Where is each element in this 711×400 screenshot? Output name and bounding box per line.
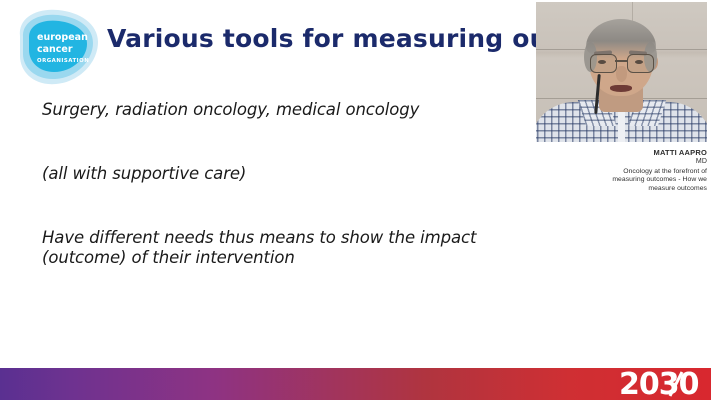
glasses-lens-right: [627, 54, 654, 73]
slide-body: Surgery, radiation oncology, medical onc…: [42, 100, 512, 268]
speaker-video-feed[interactable]: [536, 2, 707, 142]
body-paragraph-2: (all with supportive care): [42, 164, 512, 184]
logo-text-line2: cancer: [37, 44, 73, 55]
talk-title: Oncology at the forefront of measuring o…: [600, 168, 707, 193]
speaker-caption: MATTI AAPRO MD Oncology at the forefront…: [600, 148, 707, 193]
logo-text-line1: european: [37, 32, 88, 43]
speaker-nose: [616, 66, 627, 82]
footer-gradient-bar: [0, 368, 711, 400]
brand-2030-logo: 2030: [619, 368, 705, 400]
glasses-bridge: [615, 60, 627, 62]
brand-2030-text: 2030: [619, 369, 699, 399]
speaker-mouth: [610, 85, 632, 92]
european-cancer-organisation-logo: european cancer ORGANISATION: [8, 6, 104, 88]
glasses-lens-left: [590, 54, 617, 73]
speaker-name: MATTI AAPRO: [600, 148, 707, 157]
logo-text-line3: ORGANISATION: [37, 58, 89, 64]
body-paragraph-1: Surgery, radiation oncology, medical onc…: [42, 100, 512, 120]
body-paragraph-3: Have different needs thus means to show …: [42, 228, 512, 268]
presentation-slide: european cancer ORGANISATION Various too…: [0, 0, 711, 400]
speaker-credentials: MD: [600, 157, 707, 166]
